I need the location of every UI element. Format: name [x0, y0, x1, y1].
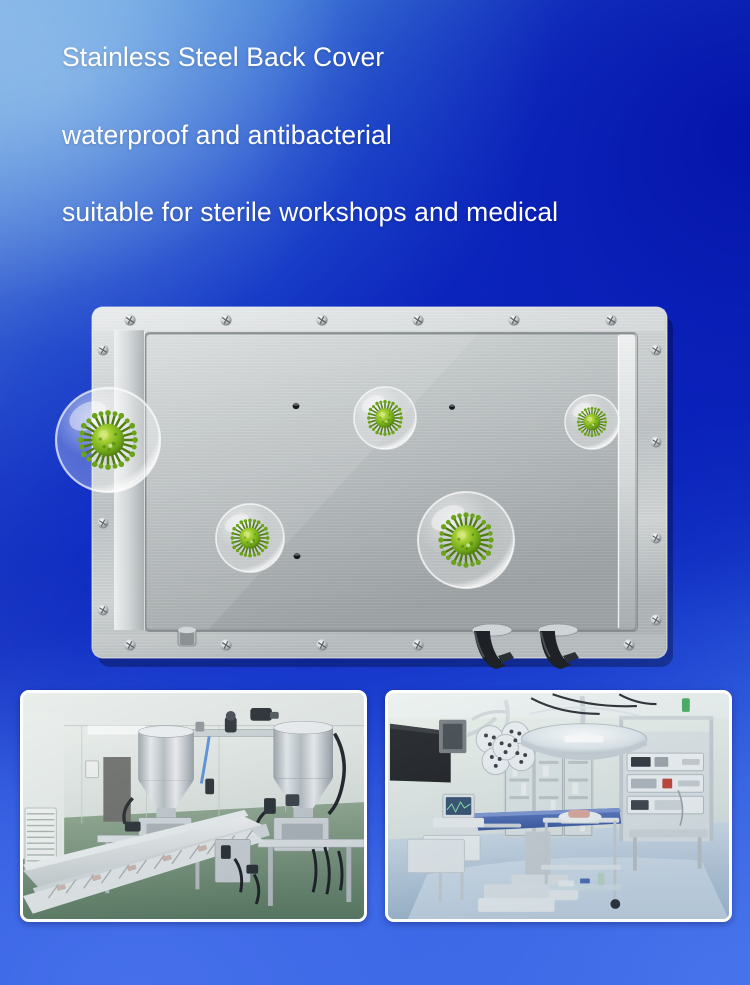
product-illustration [58, 290, 683, 675]
headline-line-1: Stainless Steel Back Cover [62, 44, 722, 71]
photo-gallery [20, 690, 732, 922]
screw [124, 314, 135, 325]
screw [220, 639, 231, 650]
screw [651, 345, 662, 356]
screw [98, 345, 109, 356]
headline-line-2: waterproof and antibacterial [62, 122, 722, 149]
bubble-bottom-mid [418, 492, 514, 588]
headline-line-3: suitable for sterile workshops and medic… [62, 199, 722, 226]
round-port-connector [178, 627, 196, 646]
headline-block: Stainless Steel Back Cover waterproof an… [62, 44, 722, 226]
screw [412, 639, 423, 650]
vent-hole [449, 404, 455, 410]
bubble-bottom-left [216, 504, 284, 572]
screw [605, 314, 616, 325]
inner-plate [144, 332, 638, 632]
bubble-top-mid [354, 387, 416, 449]
photo-production-line [20, 690, 367, 922]
screw [651, 615, 662, 626]
screw [316, 314, 327, 325]
screw [651, 437, 662, 448]
product-photo-stainless-steel-back-cover [58, 290, 683, 675]
screw [623, 639, 634, 650]
poster-canvas: Stainless Steel Back Cover waterproof an… [0, 0, 750, 985]
top-band-highlight [94, 309, 665, 331]
screw [412, 314, 423, 325]
screw [124, 639, 135, 650]
bubble-left-large [56, 388, 160, 492]
screw [508, 314, 519, 325]
screw [220, 314, 231, 325]
vent-hole [294, 553, 301, 559]
bubble-top-right [565, 395, 619, 449]
screw [98, 518, 109, 529]
photo-operating-room [385, 690, 732, 922]
screw [98, 605, 109, 616]
vent-hole [293, 403, 300, 409]
screw [651, 533, 662, 544]
operating-room-illustration [388, 693, 729, 919]
screw [316, 639, 327, 650]
production-line-illustration [23, 693, 364, 919]
